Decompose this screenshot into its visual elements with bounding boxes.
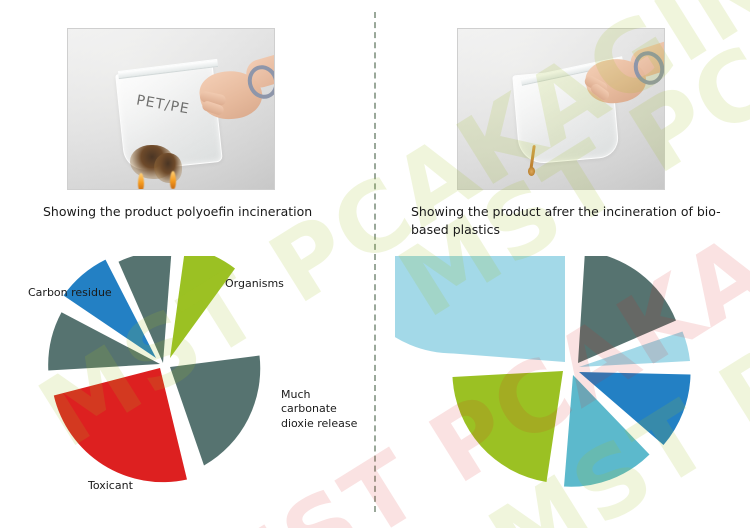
pie-slice-toxicant (54, 368, 187, 482)
flame-icon (138, 173, 144, 190)
panel-divider (374, 12, 376, 512)
infographic-page: MST PCAKAGING MST PCAKAGING MST PCAKAGIN… (0, 0, 750, 528)
left-photo-caption: Showing the product polyoefin incinerati… (43, 203, 363, 221)
pie-slice-much-carbonate (170, 356, 260, 466)
right-panel: Showing the product afrer the incinerati… (375, 0, 750, 528)
pie-label-carbon-residue: Carbon residue (28, 286, 128, 300)
bio-based-incineration-pie (395, 256, 745, 518)
pie-slice-green-photosynthetic (395, 256, 565, 362)
burn-damage (154, 153, 182, 183)
polyolefin-incineration-photo: PET/PE (67, 28, 275, 190)
melt-droplet (528, 167, 535, 176)
right-photo-caption: Showing the product afrer the incinerati… (411, 203, 741, 239)
left-panel: PET/PE Showing the product polyoefin inc… (0, 0, 375, 528)
pie-label-much-carbonate: Much carbonate dioxie release (281, 388, 367, 431)
pie-label-organisms: Organisms (225, 277, 284, 291)
pie-slice-organisms (170, 256, 235, 358)
pie-label-toxicant: Toxicant (88, 479, 133, 493)
flame-icon (170, 171, 176, 189)
pie-svg (395, 256, 745, 518)
pie-slice-organisms (453, 371, 564, 482)
bio-based-plastic-incineration-photo (457, 28, 665, 190)
